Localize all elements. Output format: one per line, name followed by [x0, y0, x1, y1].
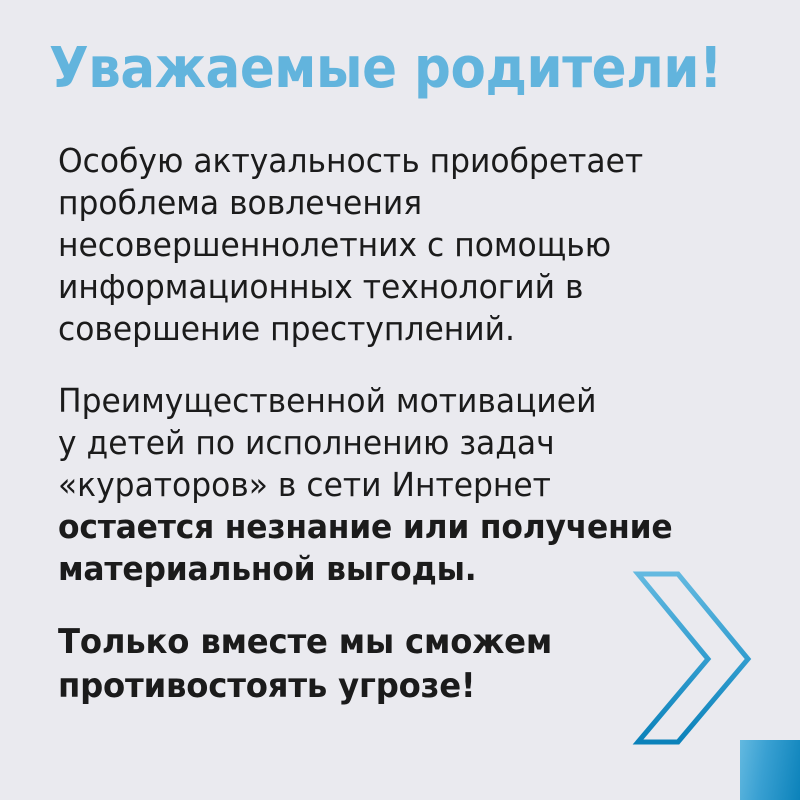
paragraph-line-emphasis: остается незнание или получение [58, 506, 723, 548]
paragraph-line-emphasis: материальной выгоды. [58, 548, 723, 590]
paragraph-line: противостоять угрозе! [58, 664, 723, 708]
paragraph-line: «кураторов» в сети Интернет [58, 464, 723, 506]
paragraph-line: Только вместе мы сможем [58, 620, 723, 664]
slide-canvas: Уважаемые родители! Особую актуальность … [0, 0, 800, 800]
paragraph-line: у детей по исполнению задач [58, 422, 723, 464]
paragraph-line: несовершеннолетних с помощью [58, 224, 723, 266]
paragraph-call-to-action: Только вместе мы сможем противостоять уг… [58, 620, 723, 708]
paragraph-line: Преимущественной мотивацией [58, 380, 723, 422]
paragraph-line: информационных технологий в [58, 266, 723, 308]
paragraph-motivation: Преимущественной мотивацией у детей по и… [58, 380, 723, 590]
paragraph-line: совершение преступлений. [58, 308, 723, 350]
body-copy: Особую актуальность приобретает проблема… [58, 140, 758, 708]
paragraph-intro: Особую актуальность приобретает проблема… [58, 140, 723, 350]
paragraph-line: Особую актуальность приобретает [58, 140, 723, 182]
corner-accent-square [740, 740, 800, 800]
page-title: Уважаемые родители! [49, 38, 693, 100]
paragraph-line: проблема вовлечения [58, 182, 723, 224]
